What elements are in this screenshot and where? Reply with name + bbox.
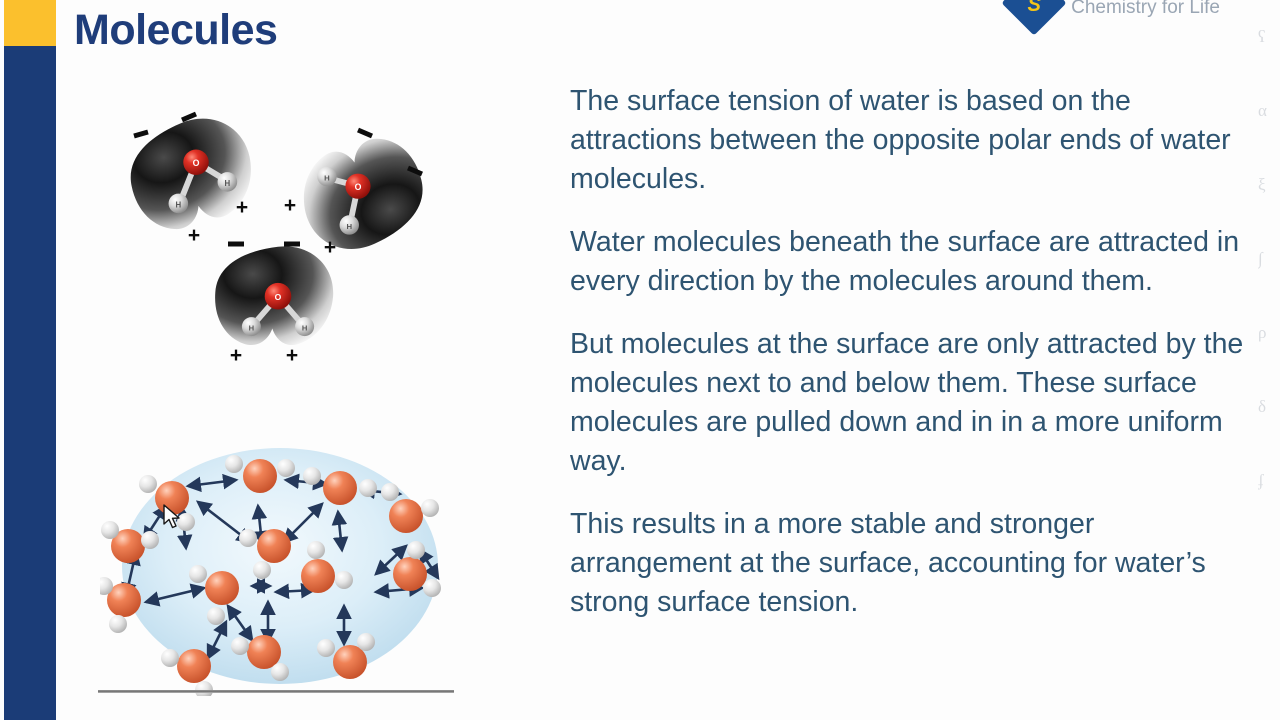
- organization-logo: S Chemistry for Life: [1007, 0, 1220, 32]
- edge-artifact-fragment: ξ: [1258, 148, 1280, 222]
- svg-text:+: +: [236, 196, 248, 219]
- svg-text:H: H: [225, 179, 231, 188]
- acs-diamond-icon: S: [1007, 0, 1061, 32]
- left-accent-bar: [4, 0, 56, 720]
- svg-text:H: H: [346, 222, 352, 231]
- svg-text:H: H: [302, 323, 307, 332]
- polar-molecule-top-left: O H H: [118, 107, 263, 239]
- edge-artifact-fragment: ∫: [1258, 222, 1280, 296]
- paragraph-4: This results in a more stable and strong…: [570, 505, 1246, 622]
- accent-bar-navy-segment: [4, 46, 56, 720]
- logo-letter: S: [1007, 0, 1061, 32]
- svg-text:O: O: [275, 292, 282, 302]
- right-edge-artifacts: ʕαξ∫ρδʄ: [1258, 0, 1280, 720]
- edge-artifact-fragment: ʄ: [1258, 444, 1280, 518]
- edge-artifact-fragment: ρ: [1258, 296, 1280, 370]
- polar-molecule-bottom: O H H: [215, 246, 333, 345]
- paragraph-1: The surface tension of water is based on…: [570, 82, 1246, 199]
- surface-rule-line: [98, 690, 454, 693]
- edge-artifact-fragment: ʕ: [1258, 0, 1280, 74]
- droplet-network-diagram: [100, 446, 460, 696]
- edge-artifact-fragment: δ: [1258, 370, 1280, 444]
- logo-tagline: Chemistry for Life: [1071, 0, 1220, 19]
- svg-text:+: +: [286, 344, 298, 367]
- svg-text:H: H: [176, 200, 182, 209]
- paragraph-3: But molecules at the surface are only at…: [570, 325, 1246, 481]
- svg-text:+: +: [284, 194, 296, 217]
- page-title: Molecules: [74, 6, 277, 55]
- edge-artifact-fragment: α: [1258, 74, 1280, 148]
- svg-text:O: O: [193, 158, 200, 168]
- body-text-block: The surface tension of water is based on…: [570, 82, 1246, 622]
- svg-text:O: O: [355, 182, 362, 192]
- accent-bar-yellow-segment: [4, 0, 56, 46]
- slide-canvas: Molecules S Chemistry for Life: [0, 0, 1280, 720]
- svg-text:+: +: [230, 344, 242, 367]
- polar-molecules-diagram: O H H O H H: [118, 104, 438, 372]
- svg-text:+: +: [324, 236, 336, 259]
- polar-molecule-top-right: O H H: [290, 128, 436, 261]
- svg-text:H: H: [324, 173, 330, 182]
- svg-text:+: +: [188, 224, 200, 247]
- water-molecule: [161, 649, 213, 696]
- svg-text:H: H: [249, 323, 254, 332]
- paragraph-2: Water molecules beneath the surface are …: [570, 223, 1246, 301]
